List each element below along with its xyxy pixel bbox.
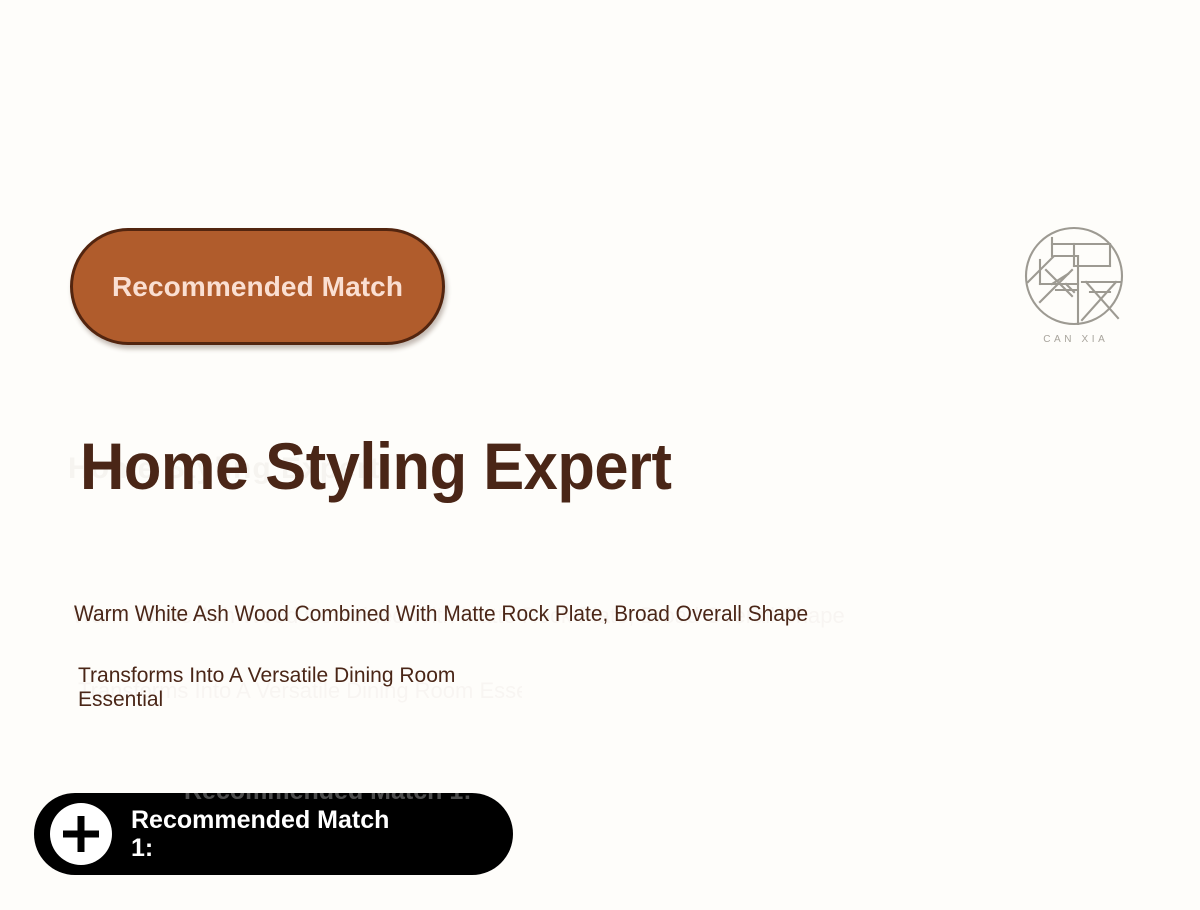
brand-caption: CAN XIA: [1018, 334, 1130, 345]
ghost-text-behind-action-pill: Recommended Match 1:: [184, 793, 472, 806]
brand-logo: CAN XIA: [1018, 222, 1130, 367]
recommended-match-badge-label: Recommended Match: [112, 271, 403, 303]
page-title: Home Styling Expert: [80, 432, 917, 501]
recommended-match-badge[interactable]: Recommended Match: [70, 228, 445, 345]
can-xia-seal-icon: [1018, 222, 1130, 334]
slide-canvas: Recommended Match: [0, 0, 1200, 910]
subtitle-primary: Warm White Ash Wood Combined With Matte …: [74, 600, 1024, 629]
recommended-match-1-button[interactable]: Recommended Match 1: Recommended Match 1…: [34, 793, 513, 875]
recommended-match-1-label: Recommended Match 1:: [131, 806, 391, 863]
plus-circle-icon: [50, 803, 112, 865]
subtitle-secondary: Transforms Into A Versatile Dining Room …: [78, 664, 498, 711]
